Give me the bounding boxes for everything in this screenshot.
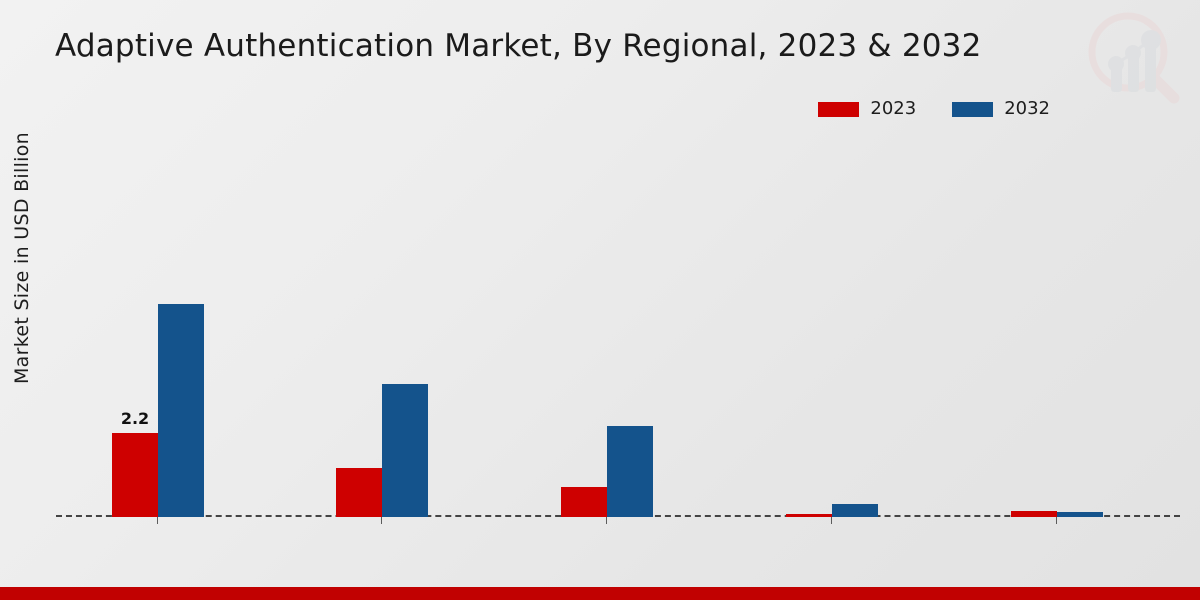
chart-legend: 2023 2032 bbox=[818, 100, 1050, 118]
page-title: Adaptive Authentication Market, By Regio… bbox=[55, 28, 982, 64]
bar-group-north-america: 2.2 bbox=[110, 140, 206, 517]
bar-2023-north-america[interactable]: 2.2 bbox=[112, 433, 158, 517]
tick-mark-mea bbox=[1056, 517, 1057, 524]
chart-figure: Adaptive Authentication Market, By Regio… bbox=[0, 0, 1200, 600]
bar-group-south-america bbox=[784, 140, 880, 517]
tick-mark-apac bbox=[606, 517, 607, 524]
legend-label-2023: 2023 bbox=[870, 100, 916, 118]
y-axis-title: Market Size in USD Billion bbox=[0, 0, 44, 516]
legend-item-2032[interactable]: 2032 bbox=[952, 100, 1050, 118]
legend-swatch-2032 bbox=[952, 102, 993, 117]
plot-area: 2.2 NORTH AMERICA EUROPE APAC bbox=[48, 140, 1188, 517]
bar-2023-mea[interactable] bbox=[1011, 511, 1057, 517]
bar-2032-south-america[interactable] bbox=[832, 504, 878, 517]
tick-mark-europe bbox=[381, 517, 382, 524]
bar-2023-europe[interactable] bbox=[336, 468, 382, 517]
bar-2032-europe[interactable] bbox=[382, 384, 428, 517]
legend-item-2023[interactable]: 2023 bbox=[818, 100, 916, 118]
footer-accent-bar bbox=[0, 587, 1200, 600]
bar-2032-mea[interactable] bbox=[1057, 512, 1103, 517]
bar-2032-north-america[interactable] bbox=[158, 304, 204, 517]
tick-mark-north-america bbox=[157, 517, 158, 524]
bar-group-mea bbox=[1009, 140, 1105, 517]
bar-2023-apac[interactable] bbox=[561, 487, 607, 517]
bar-group-europe bbox=[334, 140, 430, 517]
bar-2032-apac[interactable] bbox=[607, 426, 653, 517]
watermark-logo-icon bbox=[1082, 6, 1186, 110]
y-axis-title-text: Market Size in USD Billion bbox=[11, 132, 33, 384]
legend-label-2032: 2032 bbox=[1004, 100, 1050, 118]
tick-mark-south-america bbox=[831, 517, 832, 524]
legend-swatch-2023 bbox=[818, 102, 859, 117]
bar-2023-south-america[interactable] bbox=[786, 514, 832, 517]
bar-value-label-north-america-2023: 2.2 bbox=[121, 409, 149, 428]
bar-group-apac bbox=[559, 140, 655, 517]
